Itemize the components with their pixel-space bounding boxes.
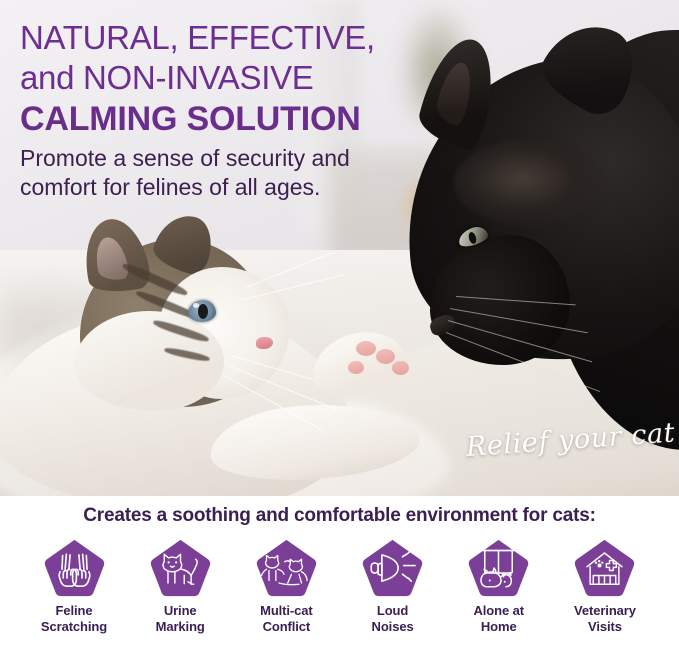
headline-line-3: CALMING SOLUTION [20,98,450,140]
kitten-cheek-fur [74,311,224,411]
benefit-item-alone-at-home: Alone at Home [449,538,549,648]
benefits-band: Creates a soothing and comfortable envir… [0,496,679,648]
benefit-label-line-2: Noises [372,619,414,635]
benefit-label-line-1: Loud [372,603,414,619]
two-cats-conflict-icon [255,538,318,598]
kitten-paw-pad [392,361,409,375]
vet-clinic-building-icon [573,538,636,598]
cat-paws-scratching-icon [43,538,106,598]
benefit-label-line-2: Scratching [41,619,107,635]
benefit-item-urine-marking: Urine Marking [130,538,230,648]
cat-window-home-icon [467,538,530,598]
benefit-label-line-2: Conflict [260,619,313,635]
benefit-label-line-1: Veterinary [574,603,636,619]
benefit-label-line-1: Urine [156,603,205,619]
kitten-paw-pad [356,341,376,356]
benefit-label: Urine Marking [156,603,205,635]
benefit-label-line-2: Marking [156,619,205,635]
black-cat-brow [454,140,604,226]
benefit-label-line-2: Visits [574,619,636,635]
benefit-label-line-1: Alone at [474,603,524,619]
kitten [60,215,440,475]
cat-urine-marking-icon [149,538,212,598]
benefit-item-multi-cat-conflict: Multi-cat Conflict [236,538,336,648]
kitten-eye-highlight [193,303,199,308]
product-infographic: NATURAL, EFFECTIVE, and NON-INVASIVE CAL… [0,0,679,648]
benefit-item-veterinary-visits: Veterinary Visits [555,538,655,648]
subheadline-line-2: comfort for felines of all ages. [20,173,450,202]
benefit-label-line-1: Multi-cat [260,603,313,619]
benefits-icon-row: Feline Scratching [0,538,679,648]
headline-line-1: NATURAL, EFFECTIVE, [20,18,450,58]
benefit-label: Loud Noises [372,603,414,635]
benefit-label-line-1: Feline [41,603,107,619]
hero-subheadline: Promote a sense of security and comfort … [20,144,450,202]
kitten-paw-pad [348,361,364,374]
subheadline-line-1: Promote a sense of security and [20,144,450,173]
benefit-label: Alone at Home [474,603,524,635]
kitten-pupil [198,304,208,319]
benefit-label: Veterinary Visits [574,603,636,635]
benefits-title: Creates a soothing and comfortable envir… [0,504,679,528]
benefit-label-line-2: Home [474,619,524,635]
hero-photo: NATURAL, EFFECTIVE, and NON-INVASIVE CAL… [0,0,679,496]
benefit-label: Multi-cat Conflict [260,603,313,635]
kitten-whisker [246,251,335,288]
hero-headline-block: NATURAL, EFFECTIVE, and NON-INVASIVE CAL… [20,18,450,202]
headline-line-2: and NON-INVASIVE [20,58,450,98]
megaphone-loud-noise-icon [361,538,424,598]
benefit-label: Feline Scratching [41,603,107,635]
benefit-item-loud-noises: Loud Noises [343,538,443,648]
kitten-paw-pad [376,349,395,364]
benefit-item-feline-scratching: Feline Scratching [24,538,124,648]
